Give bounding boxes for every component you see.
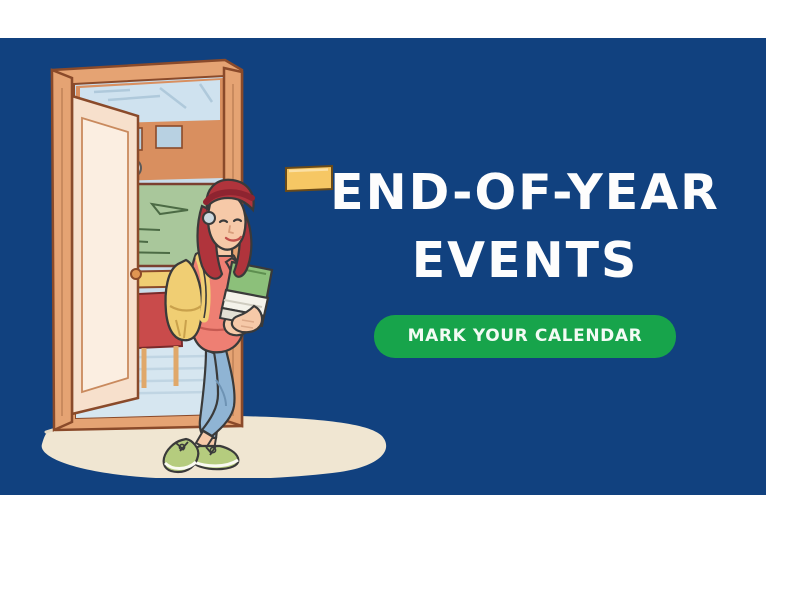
- banner-root: END-OF-YEAR EVENTS MARK YOUR CALENDAR: [0, 0, 800, 600]
- mark-your-calendar-button[interactable]: MARK YOUR CALENDAR: [374, 315, 677, 358]
- headline-line-2: EVENTS: [310, 236, 740, 285]
- cta-container: MARK YOUR CALENDAR: [310, 315, 740, 358]
- headline-line-1: END-OF-YEAR: [310, 168, 740, 217]
- poster-panel: END-OF-YEAR EVENTS MARK YOUR CALENDAR: [0, 38, 766, 495]
- poster-text-block: END-OF-YEAR EVENTS MARK YOUR CALENDAR: [310, 168, 740, 358]
